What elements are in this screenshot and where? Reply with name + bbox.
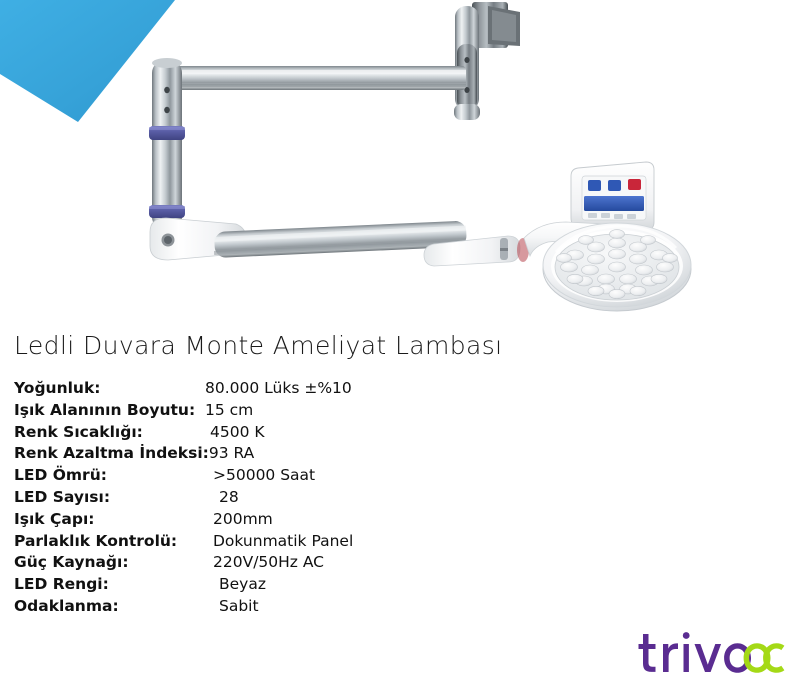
spec-value: 200mm	[205, 509, 273, 531]
spec-value: 15 cm	[205, 400, 253, 422]
spec-row: Odaklanma:Sabit	[14, 596, 353, 618]
spec-row: LED Sayısı:28	[14, 487, 353, 509]
spec-row: Parlaklık Kontrolü:Dokunmatik Panel	[14, 531, 353, 553]
spec-label: Parlaklık Kontrolü:	[14, 531, 205, 553]
spec-value: 220V/50Hz AC	[205, 552, 324, 574]
spec-label: Işık Alanının Boyutu:	[14, 400, 205, 422]
spec-label: Yoğunluk:	[14, 378, 205, 400]
spec-label: LED Sayısı:	[14, 487, 205, 509]
specification-table: Yoğunluk:80.000 Lüks ±%10Işık Alanının B…	[14, 378, 353, 618]
page-title: Ledli Duvara Monte Ameliyat Lambası	[14, 331, 503, 360]
lamp-head	[543, 223, 691, 311]
spec-row: Işık Alanının Boyutu:15 cm	[14, 400, 353, 422]
spec-row: Işık Çapı:200mm	[14, 509, 353, 531]
spec-value: 4500 K	[205, 422, 265, 444]
spec-row: Renk Azaltma İndeksi:93 RA	[14, 443, 353, 465]
spec-value: 80.000 Lüks ±%10	[205, 378, 352, 400]
spec-row: LED Rengi:Beyaz	[14, 574, 353, 596]
spec-value: Sabit	[205, 596, 259, 618]
spec-label: Işık Çapı:	[14, 509, 205, 531]
panel-button-power	[628, 179, 641, 190]
spec-value: 28	[205, 487, 239, 509]
spec-label: LED Ömrü:	[14, 465, 205, 487]
spec-label: Güç Kaynağı:	[14, 552, 205, 574]
logo-text-triva	[639, 632, 752, 673]
spec-row: LED Ömrü:>50000 Saat	[14, 465, 353, 487]
panel-button-plus	[608, 180, 621, 191]
spec-row: Yoğunluk:80.000 Lüks ±%10	[14, 378, 353, 400]
spec-label: Renk Azaltma İndeksi:	[14, 443, 209, 465]
trivago-logo	[636, 624, 786, 678]
product-image-surgical-lamp	[0, 0, 800, 325]
spec-label: LED Rengi:	[14, 574, 205, 596]
upper-horizontal-arm	[170, 66, 466, 90]
spec-value: 93 RA	[209, 443, 254, 465]
vertical-post	[149, 58, 185, 230]
spec-value: >50000 Saat	[205, 465, 315, 487]
spec-value: Beyaz	[205, 574, 266, 596]
wall-mount-bracket	[454, 2, 520, 120]
spec-row: Renk Sıcaklığı:4500 K	[14, 422, 353, 444]
panel-display	[584, 196, 644, 211]
spec-value: Dokunmatik Panel	[205, 531, 353, 553]
panel-button-minus	[588, 180, 601, 191]
spec-label: Odaklanma:	[14, 596, 205, 618]
spec-label: Renk Sıcaklığı:	[14, 422, 205, 444]
spec-row: Güç Kaynağı:220V/50Hz AC	[14, 552, 353, 574]
